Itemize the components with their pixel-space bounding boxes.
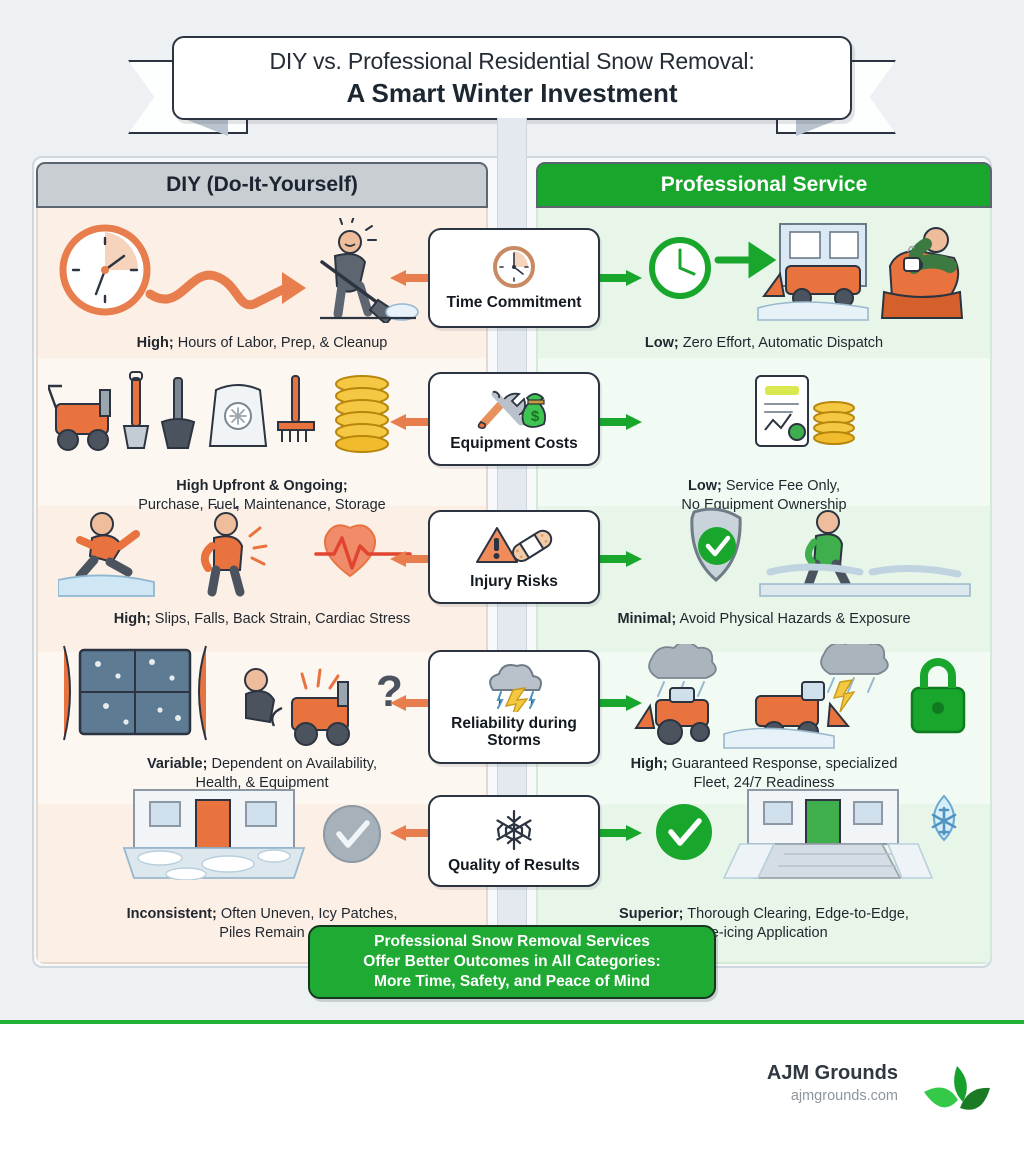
- footer-divider: [0, 1020, 1024, 1024]
- svg-text:$: $: [531, 408, 540, 425]
- illustration-pro-equipment: [752, 374, 862, 454]
- caption-pro-time: Low; Zero Effort, Automatic Dispatch: [536, 334, 992, 353]
- banner-line-3: More Time, Safety, and Peace of Mind: [374, 972, 650, 992]
- page-title-line-2: A Smart Winter Investment: [346, 78, 677, 109]
- arrow-to-pro-1: [596, 270, 642, 286]
- detail-pro-time: Zero Effort, Automatic Dispatch: [679, 335, 883, 351]
- arrow-to-pro-4: [596, 695, 642, 711]
- banner-line-2: Offer Better Outcomes in All Categories:: [363, 952, 660, 972]
- verdict-diy-equipment: High Upfront & Ongoing;: [176, 478, 348, 494]
- warning-bandage-icon: [473, 523, 555, 569]
- caption-pro-reliability: High; Guaranteed Response, specialized F…: [536, 736, 992, 793]
- category-pill-quality-of-results[interactable]: Quality of Results: [428, 795, 600, 887]
- footer-brand: AJM Grounds ajmgrounds.com: [767, 1062, 898, 1104]
- column-header-diy-label: DIY (Do-It-Yourself): [166, 173, 358, 197]
- verdict-diy-injury: High;: [114, 611, 151, 627]
- detail-diy-time: Hours of Labor, Prep, & Cleanup: [174, 335, 388, 351]
- column-header-professional-label: Professional Service: [661, 173, 868, 197]
- category-label-time-commitment: Time Commitment: [447, 294, 582, 311]
- arrow-to-pro-3: [596, 551, 642, 567]
- banner-line-1: Professional Snow Removal Services: [374, 932, 650, 952]
- verdict-pro-equipment: Low;: [688, 478, 722, 494]
- column-header-diy: DIY (Do-It-Yourself): [36, 162, 488, 208]
- category-label-reliability-during-storms: Reliability during Storms: [430, 715, 598, 750]
- illustration-pro-time: [640, 218, 988, 323]
- category-pill-injury-risks[interactable]: Injury Risks: [428, 510, 600, 604]
- verdict-diy-time: High;: [137, 335, 174, 351]
- infographic-page: DIY vs. Professional Residential Snow Re…: [0, 0, 1024, 1154]
- brand-name: AJM Grounds: [767, 1062, 898, 1085]
- leaf-logo: [920, 1062, 994, 1124]
- illustration-diy-quality: [120, 788, 400, 880]
- illustration-pro-quality: [640, 788, 980, 880]
- category-pill-equipment-costs[interactable]: $ Equipment Costs: [428, 372, 600, 466]
- verdict-pro-time: Low;: [645, 335, 679, 351]
- storm-cloud-icon: [481, 665, 547, 711]
- column-header-professional: Professional Service: [536, 162, 992, 208]
- caption-diy-injury: High; Slips, Falls, Back Strain, Cardiac…: [36, 610, 488, 629]
- conclusion-banner: Professional Snow Removal Services Offer…: [308, 925, 716, 999]
- category-label-quality-of-results: Quality of Results: [448, 857, 580, 874]
- verdict-pro-injury: Minimal;: [617, 611, 676, 627]
- category-pill-reliability-during-storms[interactable]: Reliability during Storms: [428, 650, 600, 764]
- brand-url: ajmgrounds.com: [767, 1088, 898, 1104]
- snowflake-icon: [491, 807, 537, 853]
- detail-pro-injury: Avoid Physical Hazards & Exposure: [676, 611, 910, 627]
- caption-diy-time: High; Hours of Labor, Prep, & Cleanup: [36, 334, 488, 353]
- page-title-line-1: DIY vs. Professional Residential Snow Re…: [269, 48, 754, 75]
- detail-diy-reliability: Dependent on Availability, Health, & Equ…: [196, 756, 378, 791]
- wrench-moneybag-icon: $: [475, 385, 553, 431]
- caption-pro-injury: Minimal; Avoid Physical Hazards & Exposu…: [536, 610, 992, 629]
- illustration-diy-injury: [58, 506, 418, 598]
- clock-icon: [491, 244, 537, 290]
- verdict-diy-reliability: Variable;: [147, 756, 207, 772]
- category-label-injury-risks: Injury Risks: [470, 573, 558, 590]
- detail-pro-quality: Thorough Clearing, Edge-to-Edge, De-icin…: [684, 906, 909, 941]
- arrow-to-pro-2: [596, 414, 642, 430]
- caption-diy-reliability: Variable; Dependent on Availability, Hea…: [36, 736, 488, 793]
- illustration-diy-equipment: [48, 368, 398, 458]
- illustration-pro-injury: [650, 506, 980, 598]
- verdict-pro-quality: Superior;: [619, 906, 683, 922]
- arrow-to-pro-5: [596, 825, 642, 841]
- verdict-diy-quality: Inconsistent;: [127, 906, 217, 922]
- category-pill-time-commitment[interactable]: Time Commitment: [428, 228, 600, 328]
- verdict-pro-reliability: High;: [631, 756, 668, 772]
- illustration-diy-time: [50, 218, 420, 323]
- title-card: DIY vs. Professional Residential Snow Re…: [172, 36, 852, 120]
- detail-diy-injury: Slips, Falls, Back Strain, Cardiac Stres…: [151, 611, 410, 627]
- category-label-equipment-costs: Equipment Costs: [450, 435, 577, 452]
- detail-pro-reliability: Guaranteed Response, specialized Fleet, …: [668, 756, 898, 791]
